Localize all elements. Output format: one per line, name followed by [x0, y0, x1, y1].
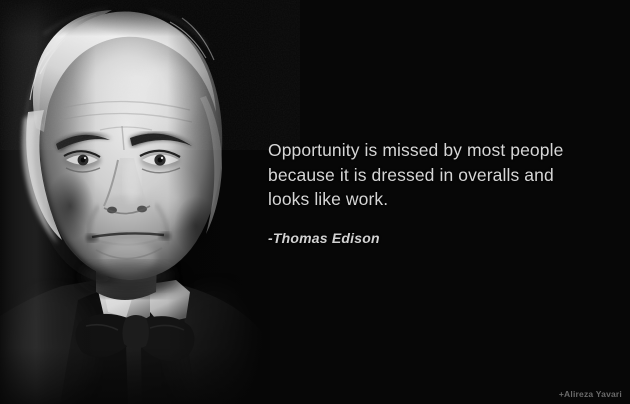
quote-line-3: looks like work. [268, 187, 598, 212]
watermark-credit: +Alireza Yavari [559, 389, 622, 399]
quote-text-block: Opportunity is missed by most people bec… [268, 138, 598, 246]
edison-portrait-illustration [0, 0, 270, 404]
quote-line-2: because it is dressed in overalls and [268, 163, 598, 188]
quote-line-1: Opportunity is missed by most people [268, 138, 598, 163]
quote-poster: Opportunity is missed by most people bec… [0, 0, 630, 404]
quote-attribution: -Thomas Edison [268, 230, 598, 246]
portrait-image [0, 0, 270, 404]
